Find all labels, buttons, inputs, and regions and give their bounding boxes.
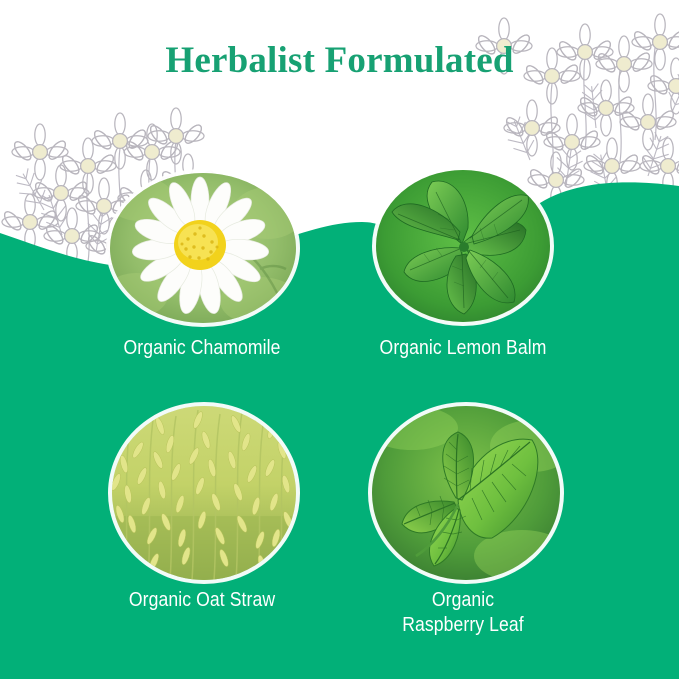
chamomile-flower-photo <box>110 173 296 323</box>
ingredient-label-raspberry-leaf-line2: Raspberry Leaf <box>340 613 586 638</box>
ingredient-label-oat-straw: Organic Oat Straw <box>79 588 325 613</box>
ingredient-label-chamomile: Organic Chamomile <box>79 336 325 361</box>
ingredient-label-raspberry-leaf: Organic Raspberry Leaf <box>340 588 586 638</box>
raspberry-leaf-photo <box>372 406 560 580</box>
lemon-balm-photo <box>376 170 550 322</box>
oat-straw-photo <box>112 406 296 580</box>
herbalist-formulated-infographic: Herbalist Formulated <box>0 0 679 679</box>
page-title: Herbalist Formulated <box>0 39 679 83</box>
ingredient-label-raspberry-leaf-line1: Organic <box>340 588 586 613</box>
ingredient-label-lemon-balm: Organic Lemon Balm <box>340 336 586 361</box>
